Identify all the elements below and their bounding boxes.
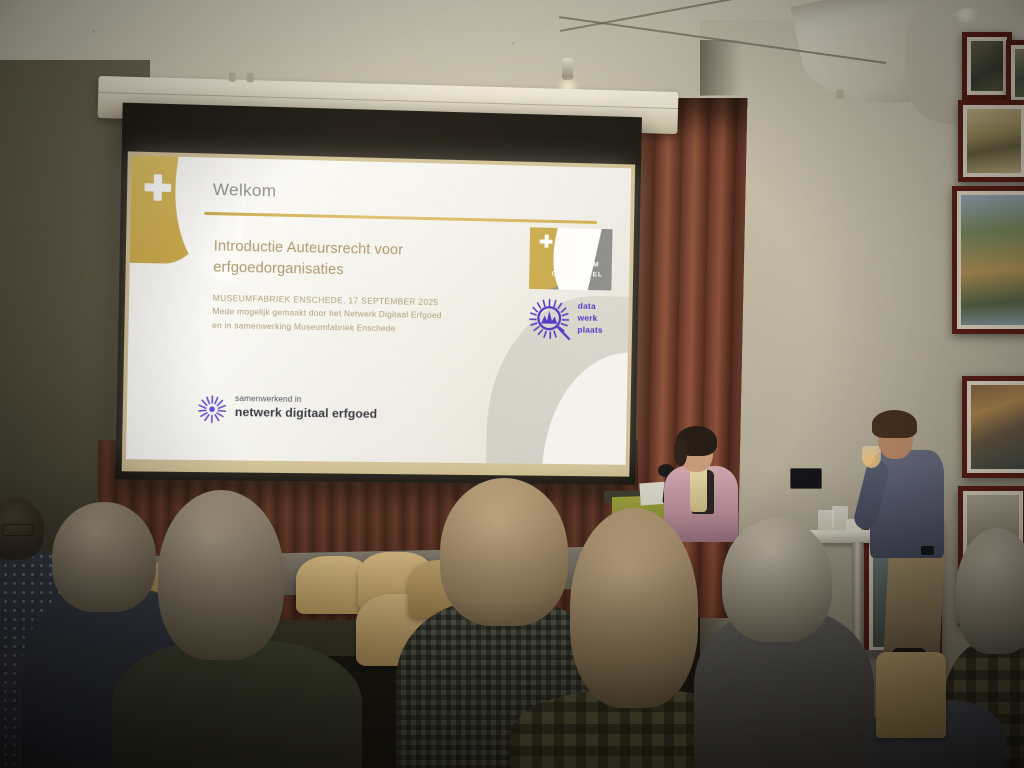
framed-print-top-left xyxy=(962,32,1012,100)
ceiling-dome-light xyxy=(955,8,981,23)
sunburst-magnifier-icon xyxy=(528,297,574,343)
wine-glass xyxy=(862,446,881,468)
dwp-line-1: data xyxy=(578,301,604,313)
audience-head-3 xyxy=(158,490,284,660)
slide-title: Welkom xyxy=(213,180,277,202)
nde-sunburst-icon xyxy=(196,393,228,425)
nde-line-2: netwerk digitaal erfgoed xyxy=(235,405,378,421)
conference-room-photo: Welkom Introductie Auteursrecht voor erf… xyxy=(0,0,1024,768)
data-werk-plaats-logo: data werk plaats xyxy=(528,297,621,346)
erfgoed-platform-overijssel-logo: ERFGOED PLATFORM OVERIJSSEL xyxy=(529,227,613,290)
standing-man-legs xyxy=(883,551,945,664)
projection-screen: Welkom Introductie Auteursrecht voor erf… xyxy=(115,103,642,485)
glasses-icon xyxy=(2,524,34,536)
framed-print-top-right xyxy=(1006,40,1024,106)
wall-control-panel[interactable] xyxy=(790,468,822,489)
dwp-line-3: plaats xyxy=(577,324,603,336)
audience-head-5 xyxy=(570,508,698,708)
framed-painting-figures xyxy=(962,376,1024,478)
epo-plus-icon xyxy=(540,235,553,248)
dwp-line-2: werk xyxy=(577,313,603,325)
audience-head-7 xyxy=(956,528,1024,654)
slide-heading: Introductie Auteursrecht voor erfgoedorg… xyxy=(213,236,484,283)
netwerk-digitaal-erfgoed-logo: samenwerkend in netwerk digitaal erfgoed xyxy=(196,391,398,430)
standing-man-watch xyxy=(921,546,934,555)
framed-painting-landscape xyxy=(952,186,1024,334)
standing-man-hair xyxy=(872,410,917,438)
presentation-slide: Welkom Introductie Auteursrecht voor erf… xyxy=(126,156,631,465)
epo-line-3: OVERIJSSEL xyxy=(547,269,608,280)
nde-line-1: samenwerkend in xyxy=(235,394,301,404)
slide-divider xyxy=(204,212,597,224)
slide-subtext: MUSEUMFABRIEK ENSCHEDE, 17 SEPTEMBER 202… xyxy=(212,292,503,338)
framed-painting-houses xyxy=(958,100,1024,182)
audience-head-2 xyxy=(52,502,156,612)
chair-front-right xyxy=(876,652,946,738)
plus-icon xyxy=(144,174,171,201)
audience-head-4 xyxy=(440,478,568,626)
presenter-hair-side xyxy=(674,438,687,466)
audience-head-6 xyxy=(722,518,832,642)
